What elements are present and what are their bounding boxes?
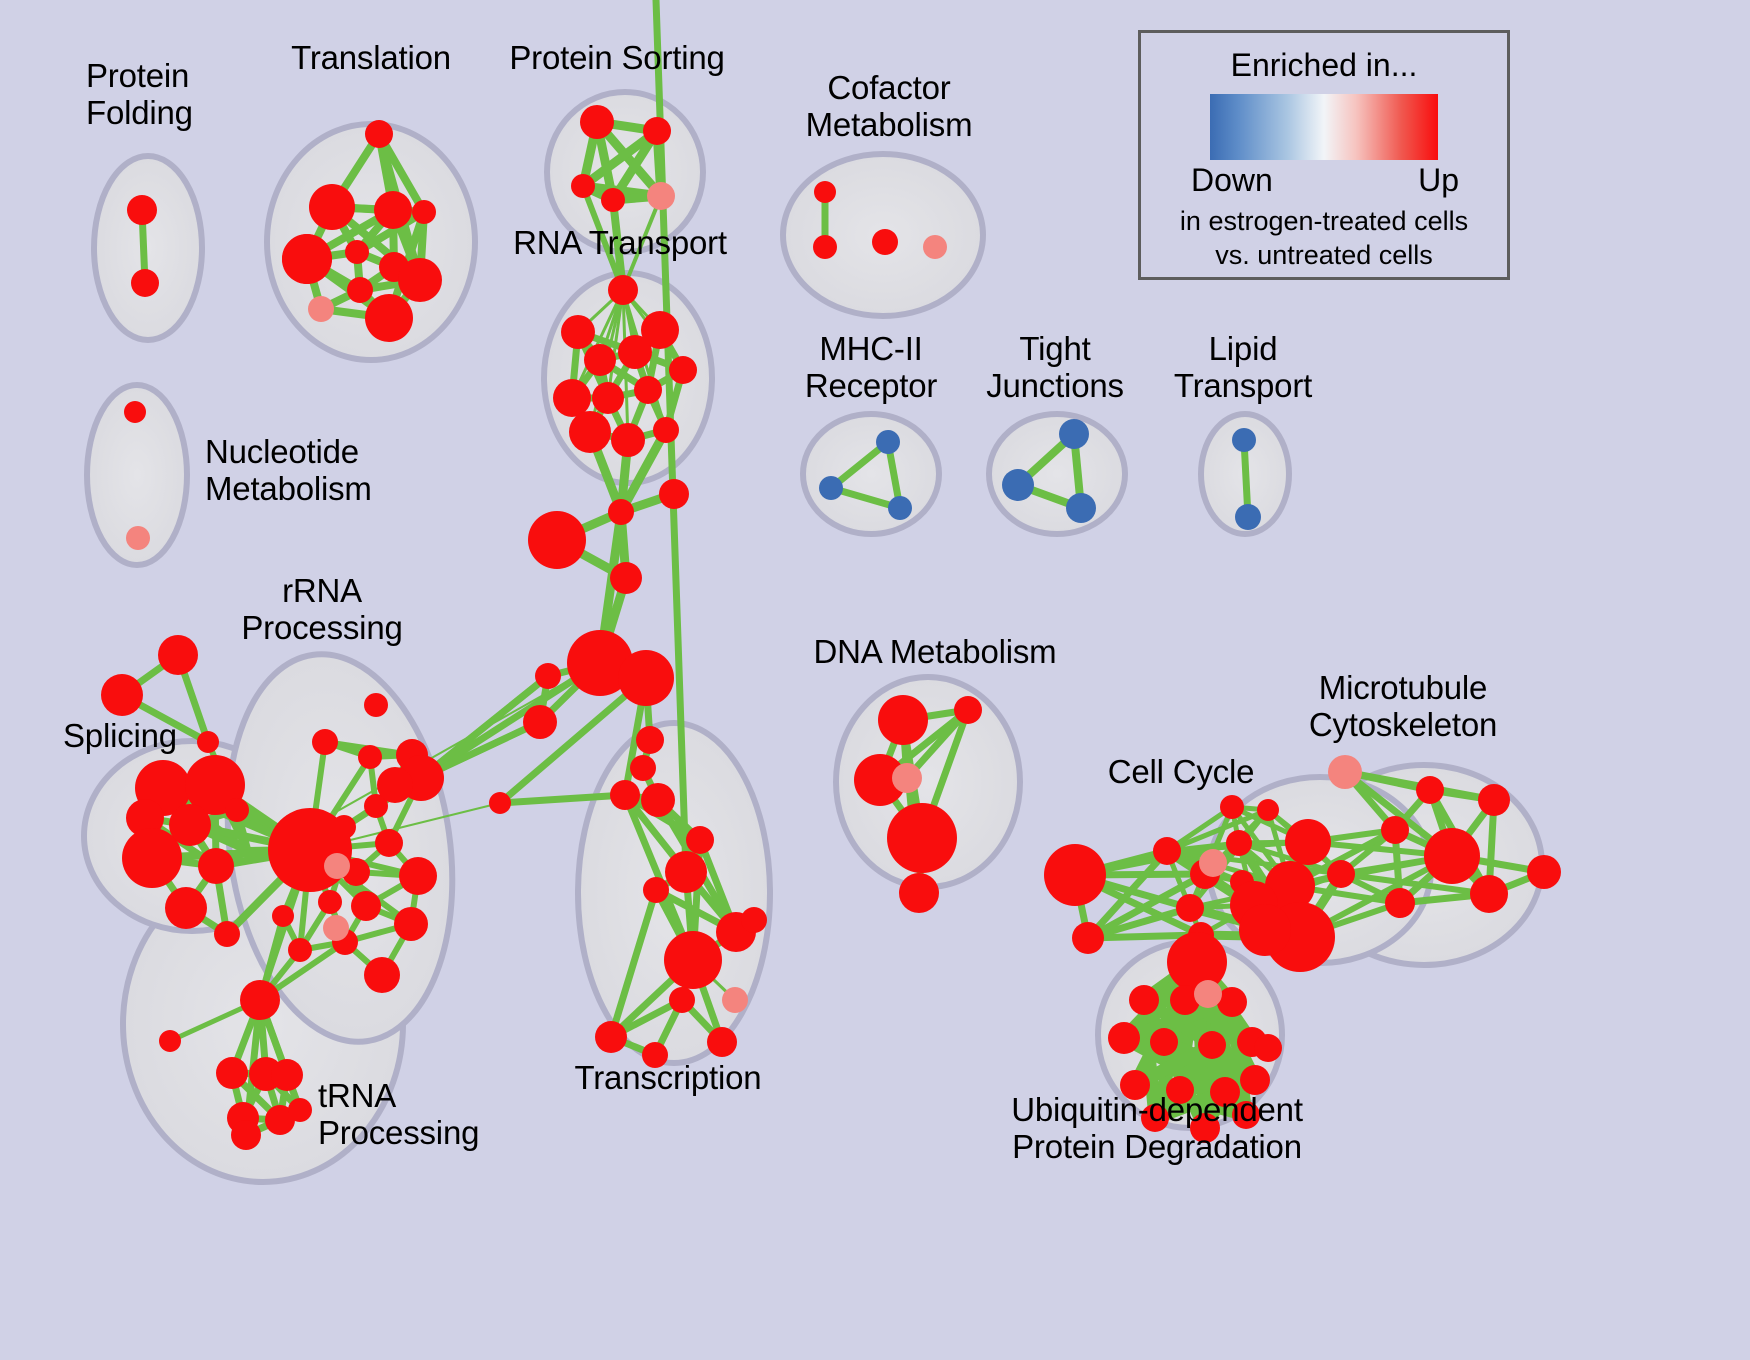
legend-subtitle-line2: vs. untreated cells bbox=[1141, 240, 1507, 272]
cluster-label-transcription: Transcription bbox=[575, 1060, 762, 1097]
cluster-label-splicing: Splicing bbox=[63, 718, 177, 755]
cluster-label-tight-junctions: Tight Junctions bbox=[986, 331, 1124, 405]
hull-mhc-ii bbox=[803, 414, 939, 534]
legend-box: Enriched in... Down Up in estrogen-treat… bbox=[1138, 30, 1510, 280]
cluster-label-microtubule-cytoskeleton: Microtubule Cytoskeleton bbox=[1309, 670, 1497, 744]
legend-low-label: Down bbox=[1191, 162, 1273, 199]
cluster-label-lipid-transport: Lipid Transport bbox=[1174, 331, 1312, 405]
cluster-label-dna-metabolism: DNA Metabolism bbox=[814, 634, 1057, 671]
cluster-label-protein-sorting: Protein Sorting bbox=[509, 40, 724, 77]
hull-protein-folding bbox=[94, 156, 202, 340]
enrichment-map-figure: Protein Folding Translation Protein Sort… bbox=[0, 0, 1750, 1360]
cluster-label-cell-cycle: Cell Cycle bbox=[1108, 754, 1255, 791]
legend-title: Enriched in... bbox=[1141, 47, 1507, 84]
cluster-label-rrna-processing: rRNA Processing bbox=[241, 573, 402, 647]
cluster-label-protein-folding: Protein Folding bbox=[86, 58, 193, 132]
color-gradient-bar bbox=[1210, 94, 1438, 160]
legend-endpoints: Down Up bbox=[1141, 162, 1507, 204]
cluster-label-nucleotide-metabolism: Nucleotide Metabolism bbox=[205, 434, 372, 508]
cluster-label-mhc-ii-receptor: MHC-II Receptor bbox=[805, 331, 937, 405]
cluster-label-translation: Translation bbox=[291, 40, 451, 77]
legend-high-label: Up bbox=[1418, 162, 1459, 199]
cluster-label-cofactor-metabolism: Cofactor Metabolism bbox=[806, 70, 973, 144]
legend-subtitle-line1: in estrogen-treated cells bbox=[1141, 206, 1507, 238]
cluster-label-ubiquitin-protein-degradation: Ubiquitin-dependent Protein Degradation bbox=[1011, 1092, 1303, 1166]
cluster-label-rna-transport: RNA Transport bbox=[513, 225, 727, 262]
cluster-label-trna-processing: tRNA Processing bbox=[318, 1078, 479, 1152]
